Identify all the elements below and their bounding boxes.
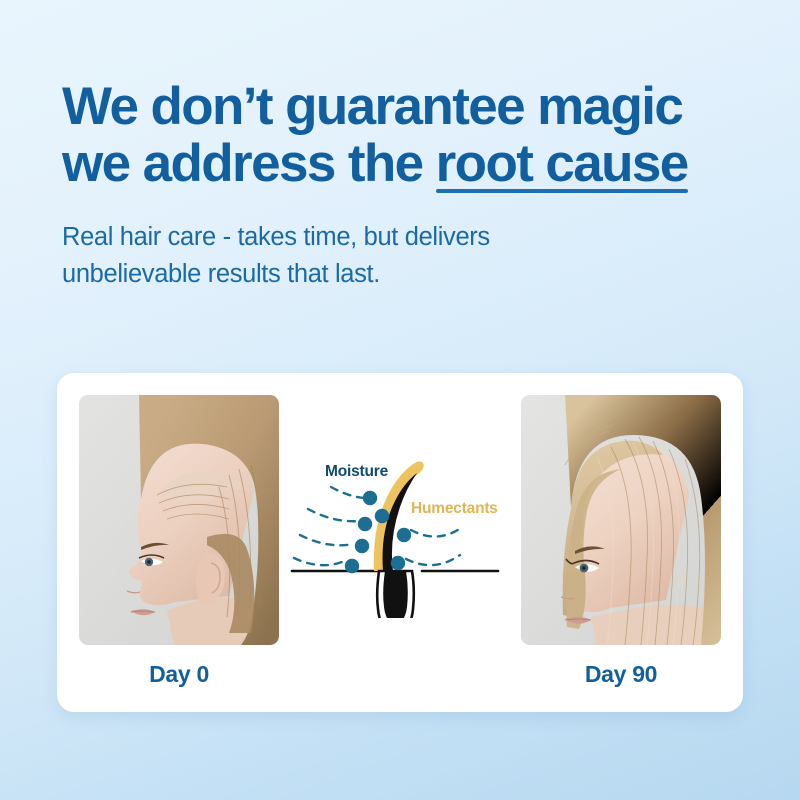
subtitle-line-2: unbelievable results that last.: [62, 256, 762, 292]
after-pane: Day 90: [521, 395, 721, 688]
page-title: We don’t guarantee magic we address the …: [62, 78, 762, 192]
headline-line-2: we address the root cause: [62, 135, 762, 192]
follicle-diagram-svg: Moisture Humectants: [284, 443, 516, 618]
before-photo-illustration: [79, 395, 279, 645]
humectant-wave-lines: [406, 528, 461, 565]
moisture-label: Moisture: [325, 463, 389, 480]
subtitle-line-1: Real hair care - takes time, but deliver…: [62, 219, 762, 255]
before-day-label: Day 0: [149, 661, 209, 688]
after-photo-illustration: [521, 395, 721, 645]
card-content: Day 0: [57, 373, 743, 712]
before-pane: Day 0: [79, 395, 279, 688]
moisture-wave-lines: [294, 487, 365, 565]
before-after-card: Day 0: [57, 373, 743, 712]
subtitle: Real hair care - takes time, but deliver…: [62, 219, 762, 291]
hero-section: We don’t guarantee magic we address the …: [62, 78, 762, 292]
headline-emphasis-root-cause: root cause: [436, 135, 688, 192]
humectants-label: Humectants: [411, 500, 498, 517]
after-day-label: Day 90: [585, 661, 657, 688]
before-photo: [79, 395, 279, 645]
headline-line-1: We don’t guarantee magic: [62, 77, 682, 136]
after-photo: [521, 395, 721, 645]
headline-line-2-prefix: we address the: [62, 134, 436, 193]
follicle-diagram: Moisture Humectants: [279, 395, 521, 618]
hair-root: [383, 571, 408, 618]
